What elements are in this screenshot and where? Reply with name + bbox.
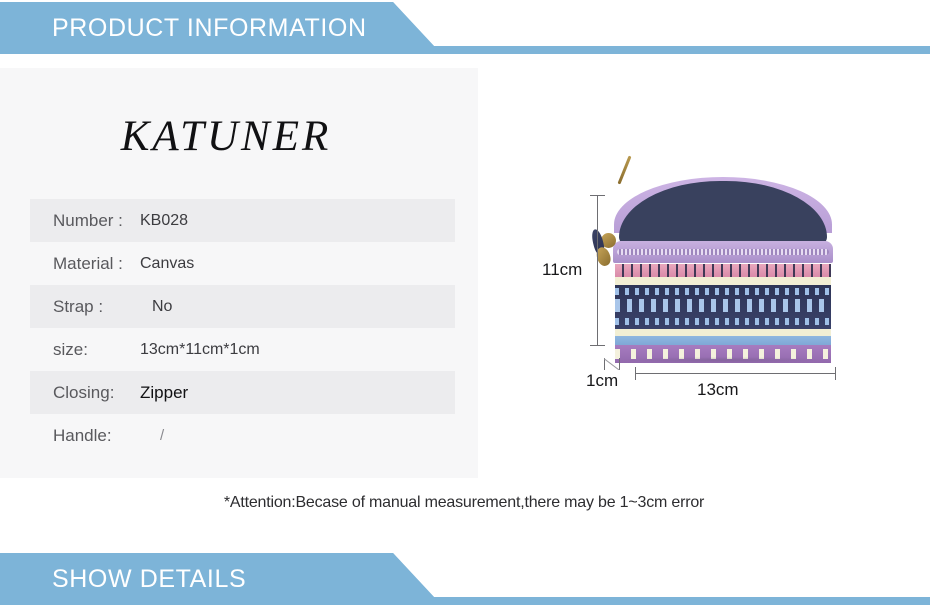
section-title-show-details: SHOW DETAILS: [52, 553, 246, 605]
purse-drop-shadow: [621, 357, 825, 363]
brand-logo-text: KATUNER: [0, 112, 452, 161]
purse-pattern-dashes: [615, 299, 831, 312]
spec-label-material: Material :: [30, 254, 138, 274]
show-details-banner: SHOW DETAILS: [0, 553, 930, 605]
spec-value-handle: /: [138, 427, 164, 444]
width-dimension-label: 13cm: [697, 380, 739, 400]
height-dimension-label: 11cm: [542, 260, 582, 280]
product-information-banner: PRODUCT INFORMATION: [0, 2, 930, 54]
page-title: PRODUCT INFORMATION: [52, 2, 367, 54]
purse-denim-panel: [619, 181, 827, 247]
purse-zipper-teeth: [617, 249, 829, 255]
width-dimension-line: [635, 373, 836, 374]
purse-pattern-dots-upper: [615, 288, 831, 295]
table-row: Material : Canvas: [30, 242, 455, 285]
depth-dimension-diagonal: [604, 358, 620, 370]
purse-pattern-band-blue: [615, 336, 831, 345]
specification-table: Number : KB028 Material : Canvas Strap :…: [30, 199, 455, 457]
coin-purse-image: [611, 181, 835, 359]
spec-value-material: Canvas: [138, 255, 194, 273]
spec-value-strap: No: [138, 298, 172, 316]
attention-note-text: *Attention:Becase of manual measurement,…: [224, 494, 704, 512]
product-figure: 11cm 13cm 1cm: [478, 68, 930, 478]
purse-pattern-band-cream-lower: [615, 329, 831, 336]
spec-value-number: KB028: [138, 212, 188, 230]
width-dimension-tick-right: [835, 367, 836, 380]
spec-value-size: 13cm*11cm*1cm: [138, 341, 260, 359]
height-dimension-tick-bottom: [590, 345, 605, 346]
purse-pattern-band-navy: [615, 285, 831, 329]
table-row: Handle: /: [30, 414, 455, 457]
purse-pattern-band-cream-upper: [615, 277, 831, 285]
table-row: Number : KB028: [30, 199, 455, 242]
zipper-tab-icon: [617, 156, 631, 185]
spec-label-strap: Strap :: [30, 297, 138, 317]
width-dimension-tick-left: [635, 367, 636, 380]
spec-label-handle: Handle:: [30, 426, 138, 446]
table-row: Closing: Zipper: [30, 371, 455, 414]
spec-label-size: size:: [30, 340, 138, 360]
height-dimension-line: [597, 195, 598, 345]
attention-note: *Attention:Becase of manual measurement,…: [0, 494, 930, 512]
purse-pattern-dots-lower: [615, 318, 831, 325]
height-dimension-tick-top: [590, 195, 605, 196]
depth-dimension-label: 1cm: [586, 371, 618, 391]
spec-label-closing: Closing:: [30, 383, 138, 403]
spec-value-closing: Zipper: [138, 383, 188, 403]
table-row: Strap : No: [30, 285, 455, 328]
spec-label-number: Number :: [30, 211, 138, 231]
table-row: size: 13cm*11cm*1cm: [30, 328, 455, 371]
purse-pattern-stitching: [615, 264, 831, 277]
